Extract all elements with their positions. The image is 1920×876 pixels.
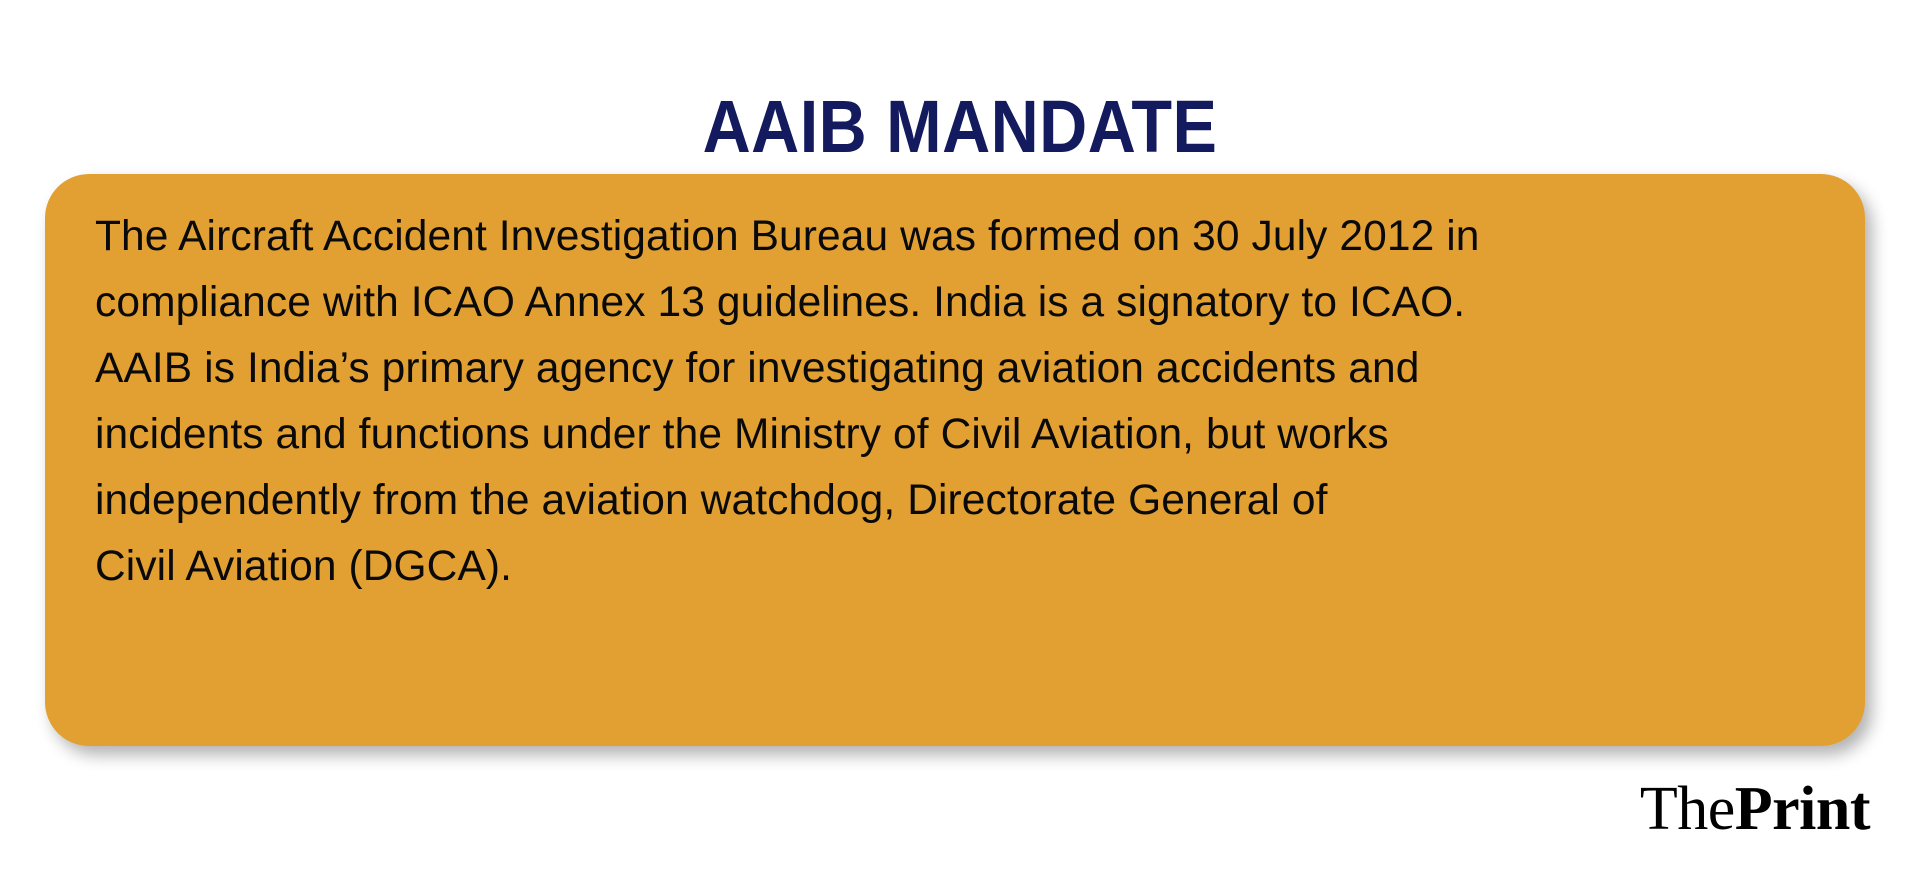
infographic-canvas: AAIB MANDATE The Aircraft Accident Inves… <box>0 0 1920 876</box>
theprint-logo: ThePrint <box>1640 778 1870 840</box>
mandate-card: The Aircraft Accident Investigation Bure… <box>45 174 1865 746</box>
paragraph-line: incidents and functions under the Minist… <box>95 402 1837 468</box>
paragraph-line: compliance with ICAO Annex 13 guidelines… <box>95 270 1837 336</box>
paragraph-line: AAIB is India’s primary agency for inves… <box>95 336 1837 402</box>
page-title: AAIB MANDATE <box>703 84 1218 170</box>
paragraph-line: independently from the aviation watchdog… <box>95 468 1837 534</box>
logo-the-text: The <box>1640 775 1735 843</box>
mandate-paragraph: The Aircraft Accident Investigation Bure… <box>95 204 1837 600</box>
paragraph-line: The Aircraft Accident Investigation Bure… <box>95 204 1837 270</box>
paragraph-line: Civil Aviation (DGCA). <box>95 534 1837 600</box>
logo-print-text: Print <box>1735 775 1870 843</box>
